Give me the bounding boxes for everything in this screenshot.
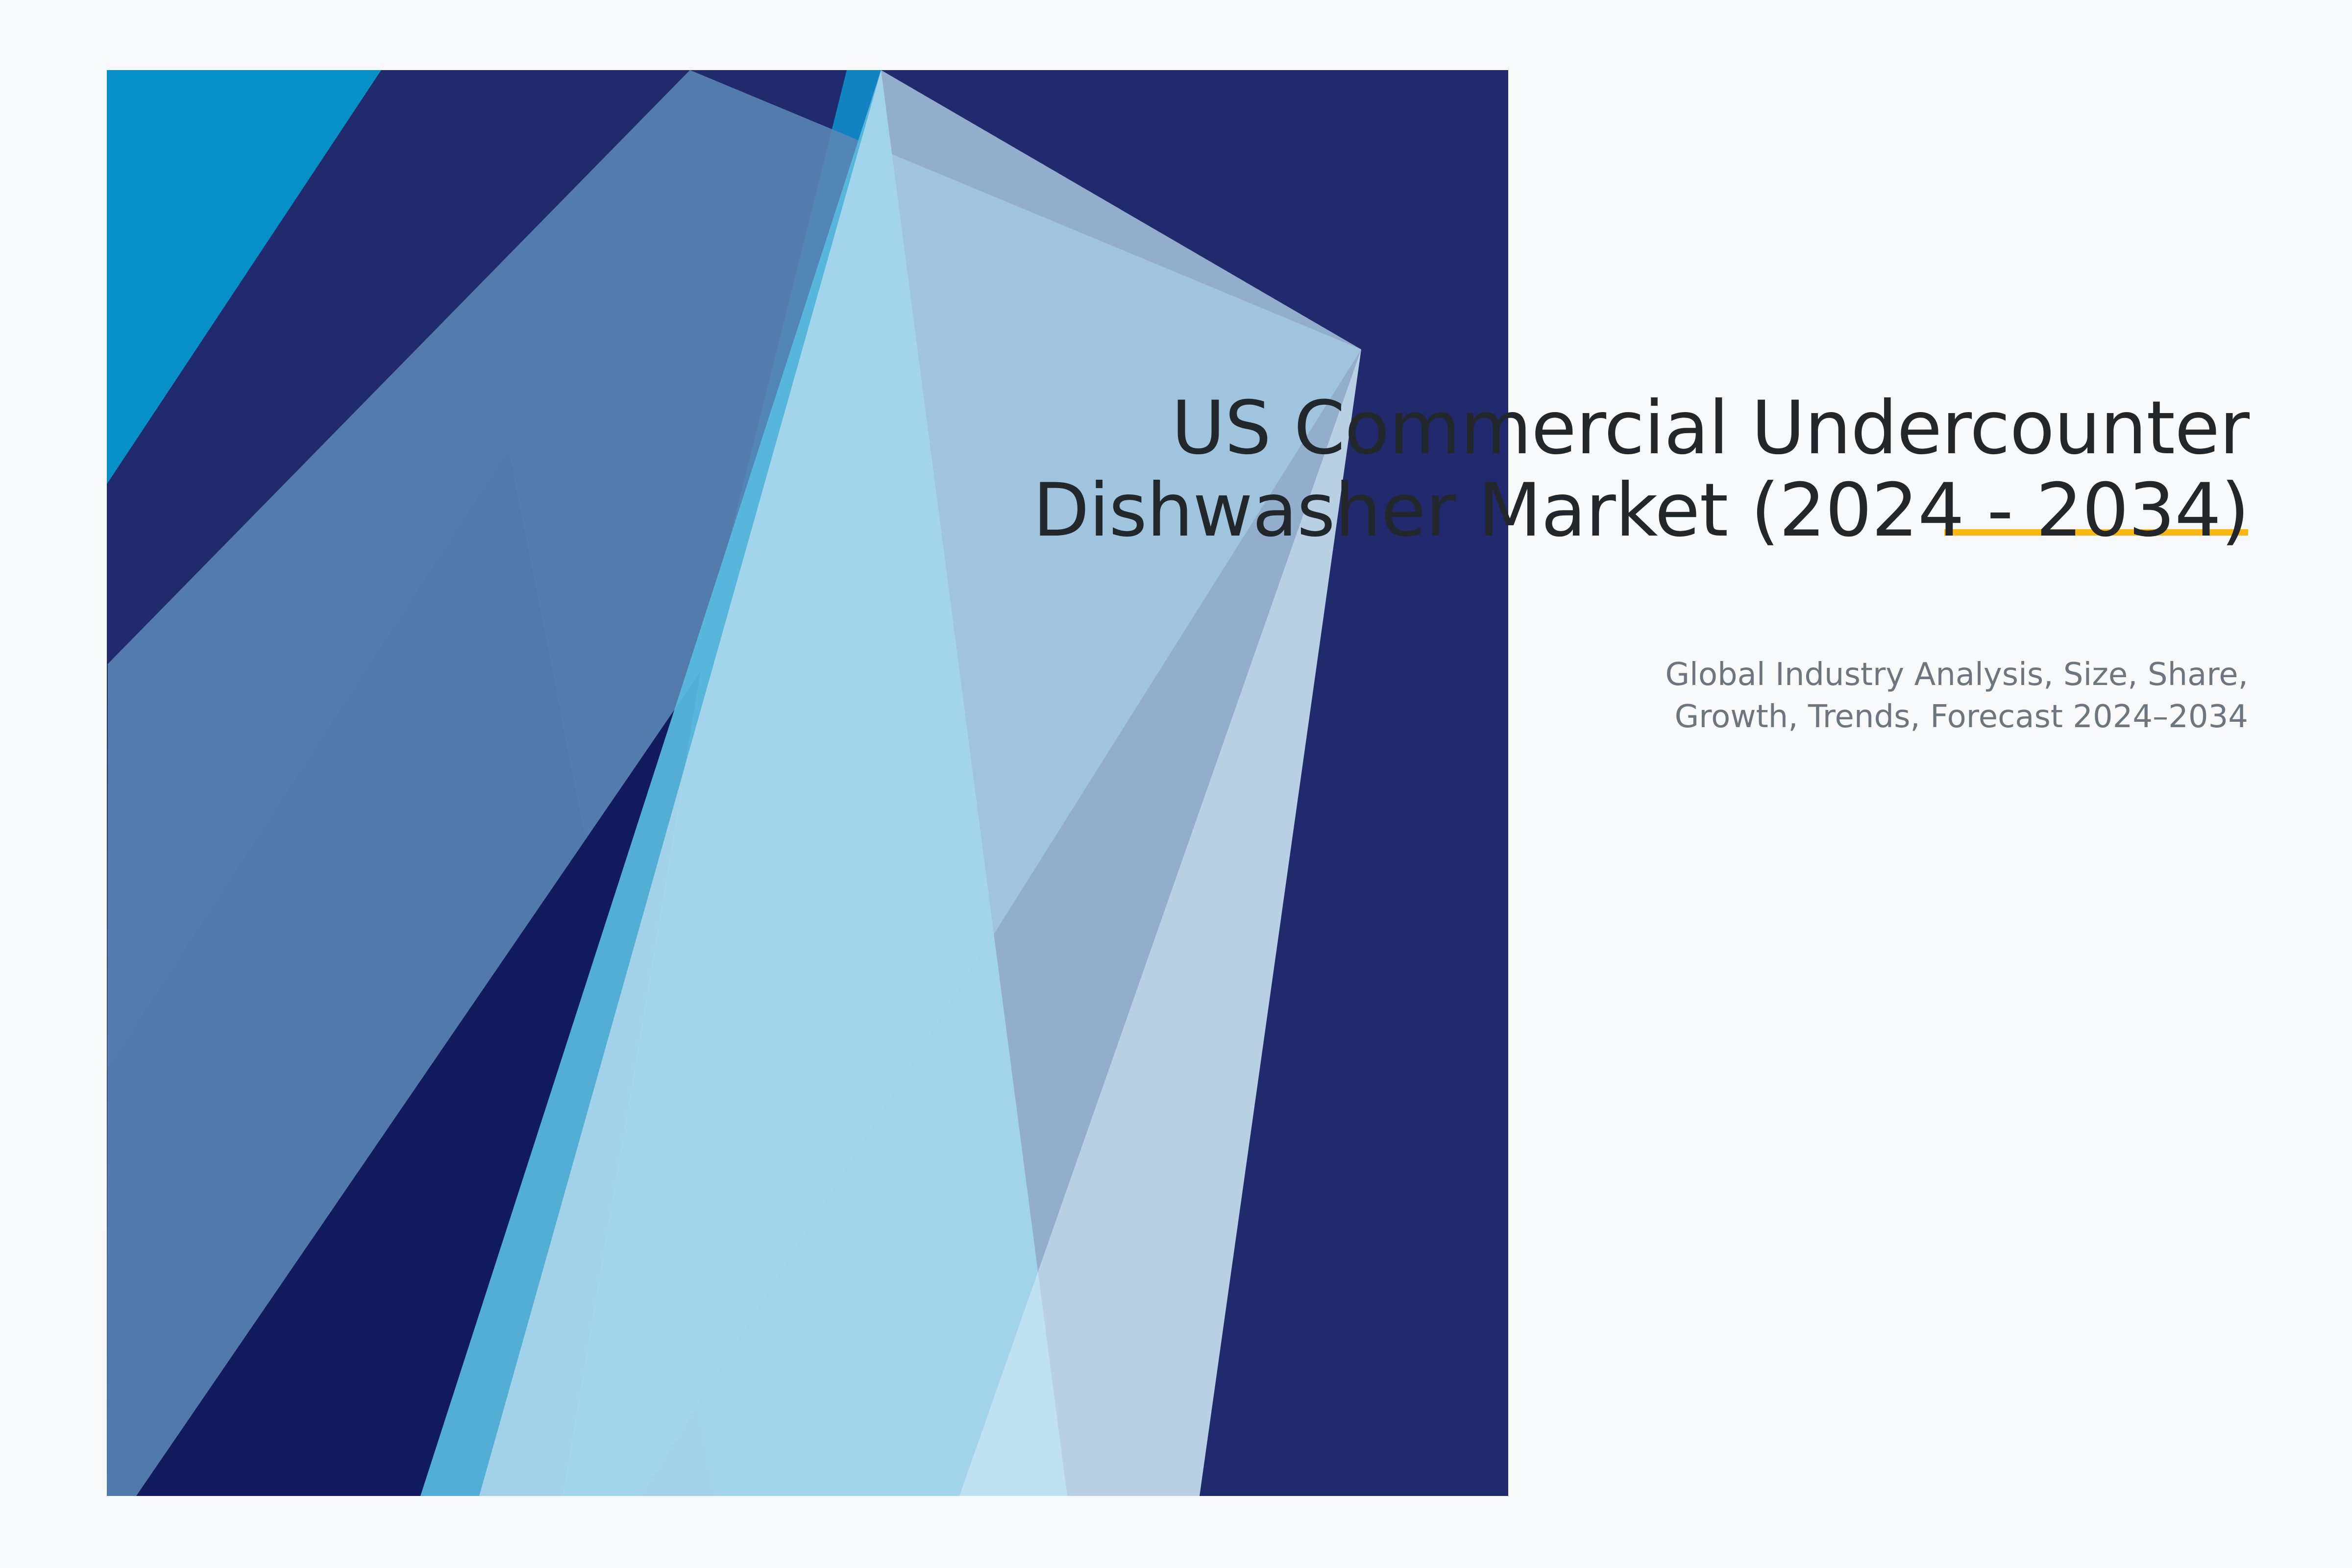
title-block: US Commercial Undercounter Dishwasher Ma… bbox=[975, 387, 2249, 552]
artwork-svg bbox=[107, 70, 1508, 1496]
report-cover: US Commercial Undercounter Dishwasher Ma… bbox=[0, 0, 2352, 1568]
subtitle-block: Global Industry Analysis, Size, Share, G… bbox=[1415, 654, 2248, 738]
abstract-geometric-panel bbox=[107, 70, 1508, 1496]
page-title: US Commercial Undercounter Dishwasher Ma… bbox=[975, 387, 2249, 552]
page-subtitle: Global Industry Analysis, Size, Share, G… bbox=[1415, 654, 2248, 738]
